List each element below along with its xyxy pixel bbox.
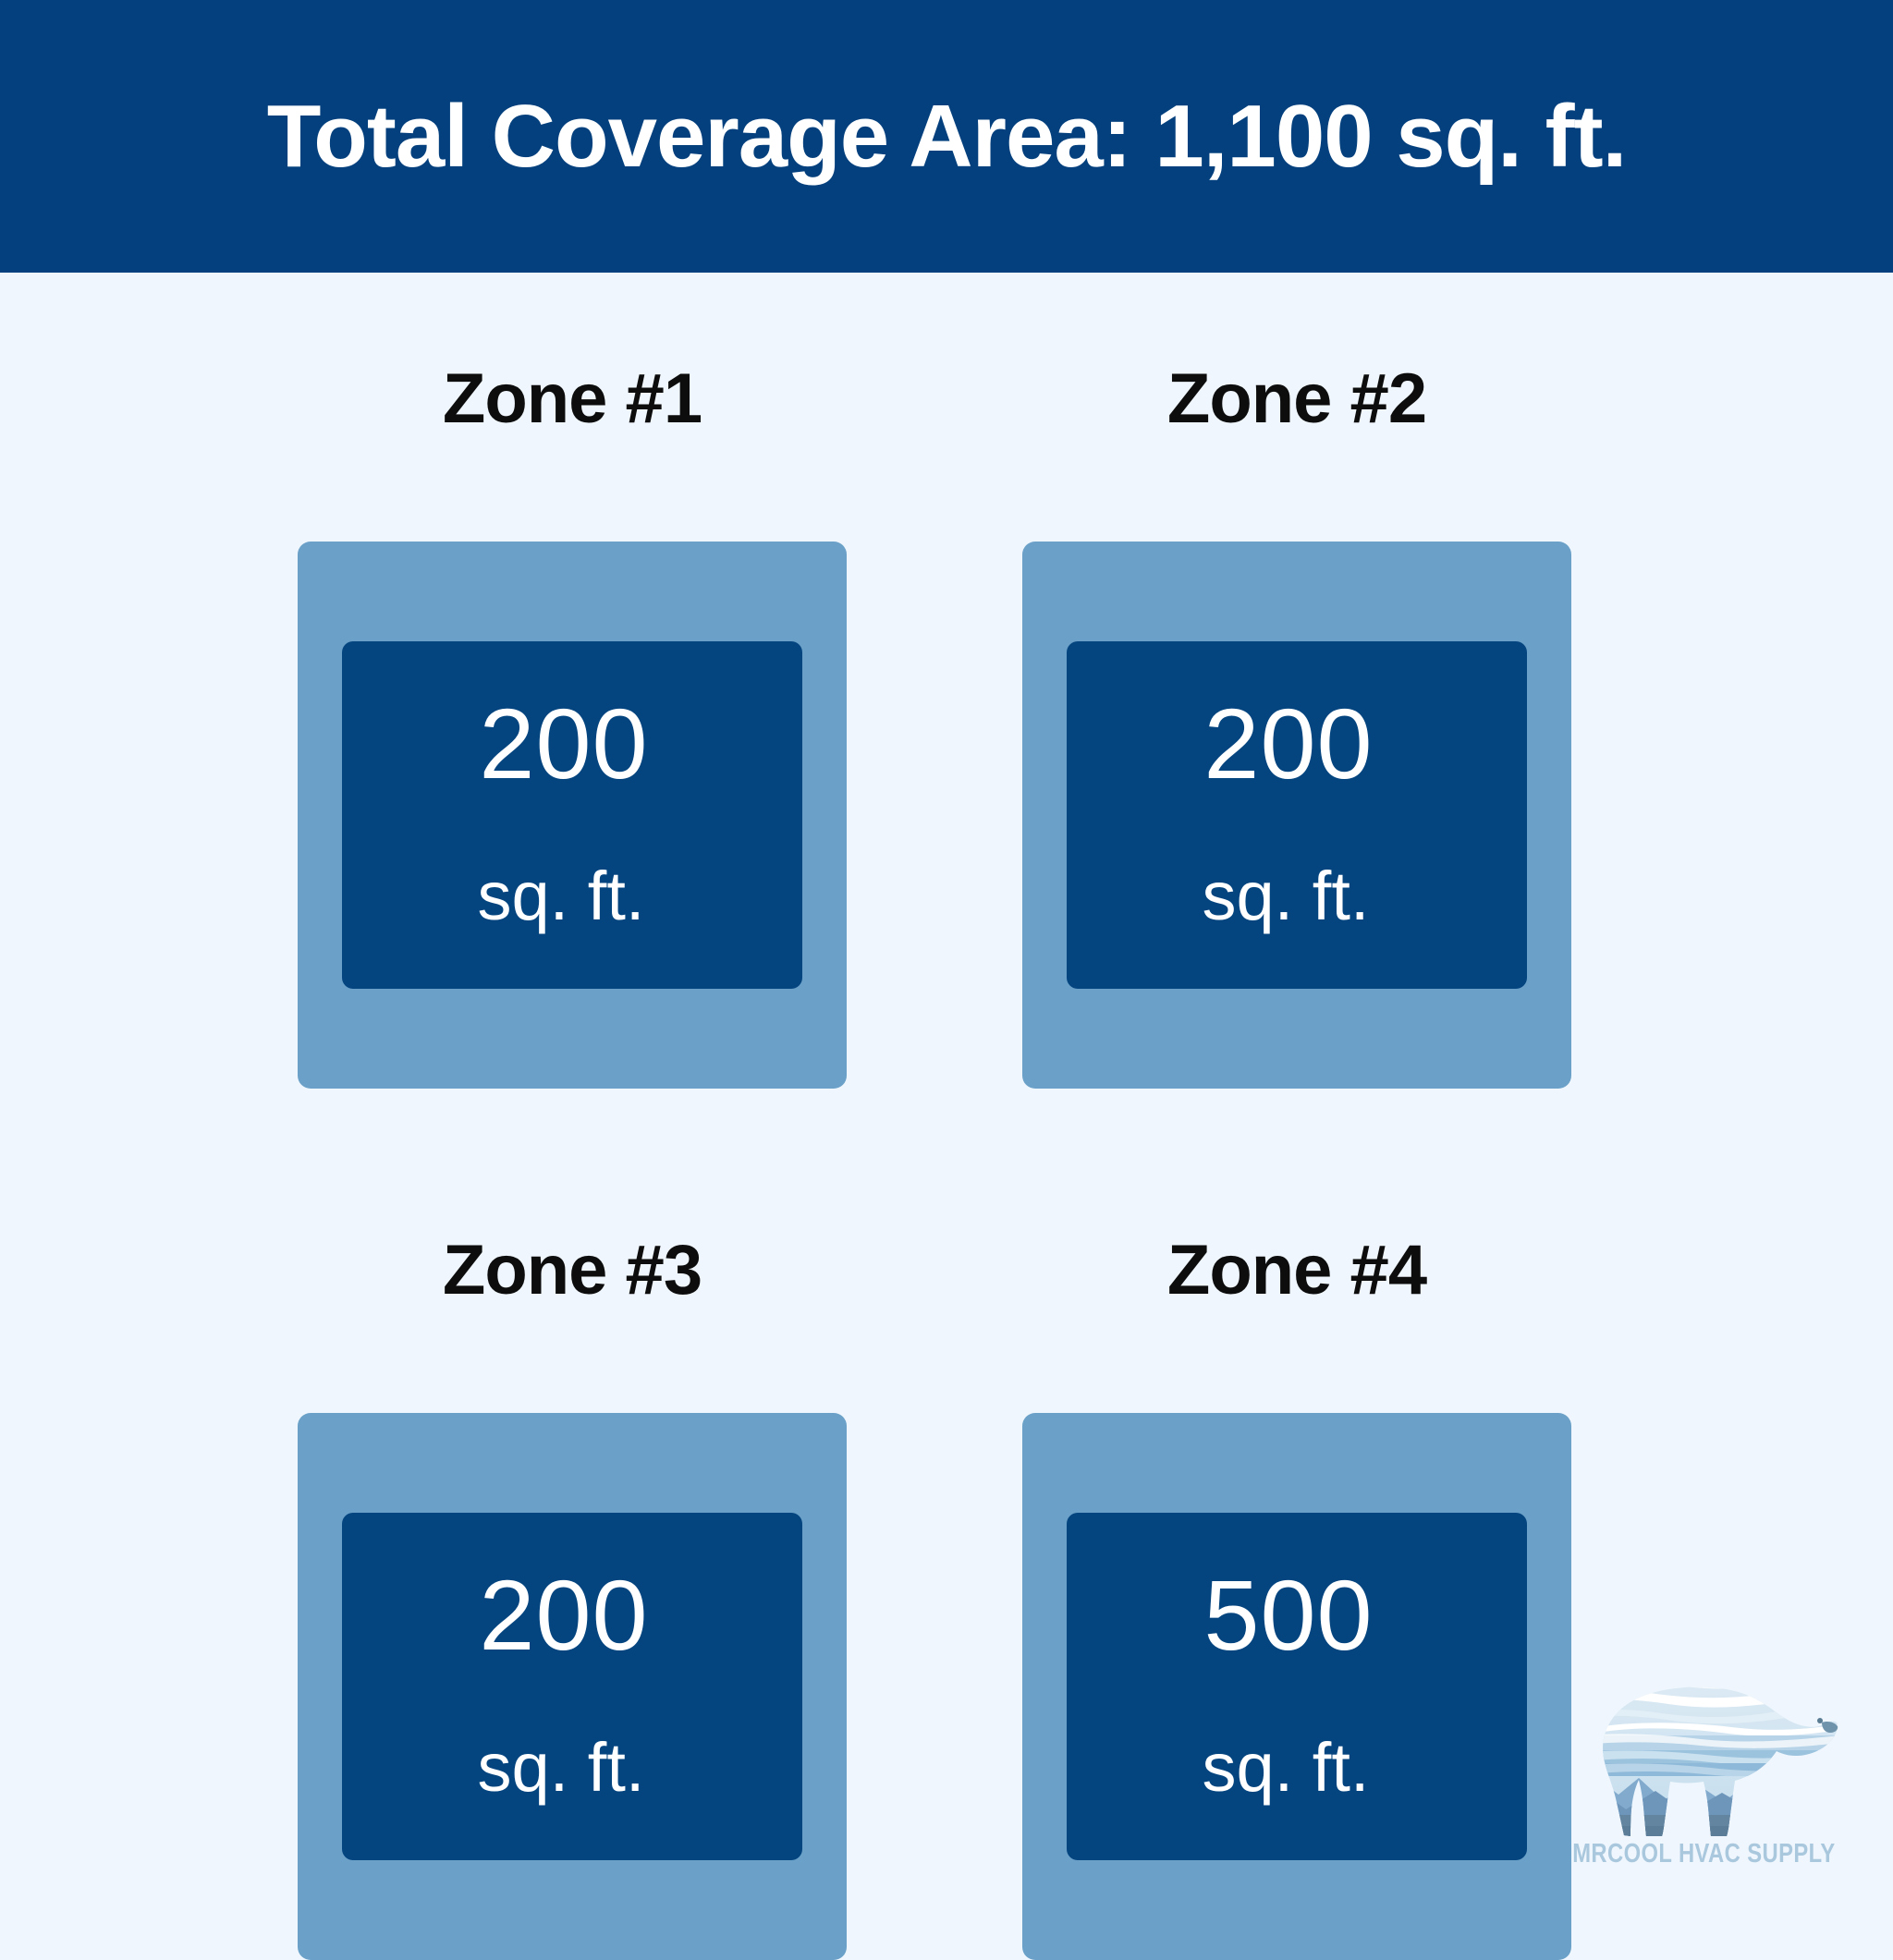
zone-block-4: Zone #4 500 sq. ft. [1022, 1228, 1571, 1960]
zone-label-1: Zone #1 [298, 357, 847, 442]
zones-grid: Zone #1 200 sq. ft. Zone #2 200 sq. ft. … [298, 357, 1571, 1960]
zone-unit-2: sq. ft. [1203, 862, 1370, 931]
zone-unit-1: sq. ft. [478, 862, 645, 931]
logo-wordmark: MRCOOL HVAC SUPPLY [1572, 1841, 1835, 1868]
brand-logo: MRCOOL HVAC SUPPLY [1551, 1680, 1856, 1879]
zone-unit-4: sq. ft. [1203, 1734, 1370, 1802]
zone-row-1: Zone #1 200 sq. ft. Zone #2 200 sq. ft. [298, 357, 1571, 1089]
zone-label-3: Zone #3 [298, 1228, 847, 1313]
zone-label-4: Zone #4 [1022, 1228, 1571, 1313]
zone-block-1: Zone #1 200 sq. ft. [298, 357, 847, 1089]
polar-bear-logo-icon [1567, 1680, 1840, 1839]
zone-label-2: Zone #2 [1022, 357, 1571, 442]
zone-inner-1: 200 sq. ft. [342, 641, 802, 989]
zone-value-2: 200 [1203, 694, 1373, 794]
zone-block-3: Zone #3 200 sq. ft. [298, 1228, 847, 1960]
zone-inner-4: 500 sq. ft. [1067, 1513, 1527, 1860]
zone-card-3: 200 sq. ft. [298, 1413, 847, 1960]
zone-value-3: 200 [479, 1565, 648, 1665]
page-title: Total Coverage Area: 1,100 sq. ft. [267, 92, 1627, 181]
zone-value-1: 200 [479, 694, 648, 794]
zone-card-1: 200 sq. ft. [298, 542, 847, 1089]
zone-card-2: 200 sq. ft. [1022, 542, 1571, 1089]
header-banner: Total Coverage Area: 1,100 sq. ft. [0, 0, 1893, 273]
zone-card-4: 500 sq. ft. [1022, 1413, 1571, 1960]
zone-value-4: 500 [1203, 1565, 1373, 1665]
zone-unit-3: sq. ft. [478, 1734, 645, 1802]
zone-row-2: Zone #3 200 sq. ft. Zone #4 500 sq. ft. [298, 1228, 1571, 1960]
zone-inner-3: 200 sq. ft. [342, 1513, 802, 1860]
zone-inner-2: 200 sq. ft. [1067, 641, 1527, 989]
zone-block-2: Zone #2 200 sq. ft. [1022, 357, 1571, 1089]
